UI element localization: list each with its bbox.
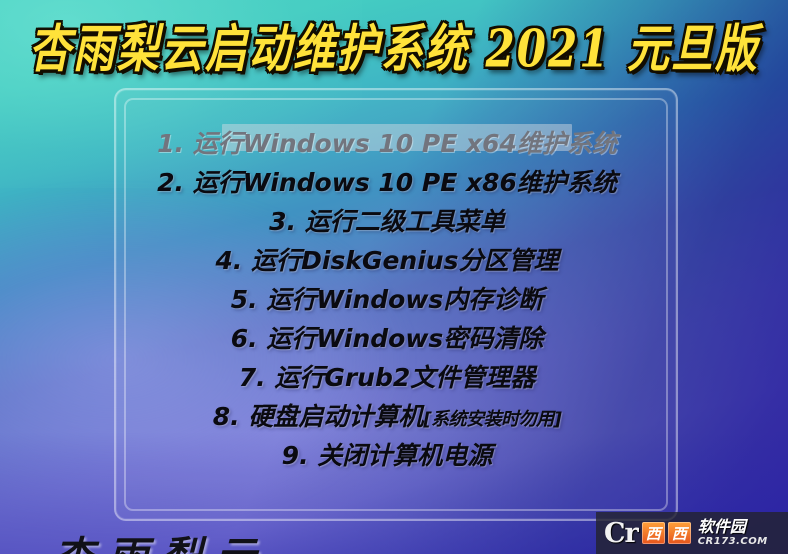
boot-menu-item-text: 运行Windows密码清除 [266, 324, 543, 353]
site-watermark: Cr 西 西 软件园 CR173.COM [596, 512, 788, 554]
watermark-logo-mark: Cr [604, 520, 638, 547]
boot-menu-item-number: 1. [157, 129, 184, 158]
boot-menu-screen: 杏雨梨云启动维护系统 2021 元旦版 1. 运行Windows 10 PE x… [0, 0, 788, 554]
boot-menu-item-label: 5. 运行Windows内存诊断 [114, 280, 674, 316]
boot-menu-item-label: 9. 关闭计算机电源 [114, 436, 674, 472]
watermark-site-name: 软件园 [698, 519, 768, 535]
boot-menu-item-label: 4. 运行DiskGenius分区管理 [114, 241, 674, 277]
boot-menu-item-label: 3. 运行二级工具菜单 [114, 202, 674, 238]
boot-menu-item-5[interactable]: 5. 运行Windows内存诊断 [114, 278, 674, 317]
boot-menu-item-text: 硬盘启动计算机 [248, 402, 423, 431]
bottom-decorative-text: 杏雨梨云 [54, 524, 270, 554]
watermark-boxes: 西 西 [642, 522, 691, 544]
boot-menu-item-text: 运行Grub2文件管理器 [274, 363, 535, 392]
boot-menu-item-text: 运行DiskGenius分区管理 [251, 246, 558, 275]
boot-menu-item-note: [系统安装时勿用] [423, 409, 561, 430]
page-title: 杏雨梨云启动维护系统 2021 元旦版 [0, 8, 788, 82]
boot-menu-item-8[interactable]: 8. 硬盘启动计算机[系统安装时勿用] [114, 395, 674, 434]
boot-menu-item-7[interactable]: 7. 运行Grub2文件管理器 [114, 356, 674, 395]
boot-menu-item-number: 9. [282, 441, 309, 470]
boot-menu-item-number: 6. [231, 324, 258, 353]
boot-menu-item-9[interactable]: 9. 关闭计算机电源 [114, 434, 674, 473]
boot-menu-item-text: 运行Windows内存诊断 [266, 285, 543, 314]
boot-menu-item-number: 8. [213, 402, 240, 431]
boot-menu-item-text: 运行Windows 10 PE x64维护系统 [193, 129, 617, 158]
boot-menu-item-1[interactable]: 1. 运行Windows 10 PE x64维护系统 [114, 122, 674, 161]
watermark-box-1: 西 [642, 522, 665, 544]
watermark-site-url: CR173.COM [698, 537, 768, 547]
boot-menu-item-number: 7. [239, 363, 266, 392]
boot-menu-item-text: 运行二级工具菜单 [305, 207, 505, 236]
boot-menu-item-label: 1. 运行Windows 10 PE x64维护系统 [114, 124, 674, 160]
boot-menu-item-number: 2. [157, 168, 184, 197]
boot-menu-item-text: 运行Windows 10 PE x86维护系统 [193, 168, 617, 197]
boot-menu-item-label: 6. 运行Windows密码清除 [114, 319, 674, 355]
boot-menu-item-6[interactable]: 6. 运行Windows密码清除 [114, 317, 674, 356]
boot-menu-item-number: 3. [269, 207, 296, 236]
boot-menu-item-text: 关闭计算机电源 [317, 441, 492, 470]
boot-menu-item-4[interactable]: 4. 运行DiskGenius分区管理 [114, 239, 674, 278]
boot-menu-item-number: 4. [216, 246, 243, 275]
watermark-textblock: 软件园 CR173.COM [698, 519, 768, 547]
watermark-box-2: 西 [668, 522, 691, 544]
boot-menu-item-3[interactable]: 3. 运行二级工具菜单 [114, 200, 674, 239]
boot-menu-list[interactable]: 1. 运行Windows 10 PE x64维护系统2. 运行Windows 1… [114, 122, 674, 473]
boot-menu-item-label: 7. 运行Grub2文件管理器 [114, 358, 674, 394]
boot-menu-item-label: 8. 硬盘启动计算机[系统安装时勿用] [114, 397, 674, 433]
boot-menu-item-label: 2. 运行Windows 10 PE x86维护系统 [114, 163, 674, 199]
boot-menu-item-number: 5. [231, 285, 258, 314]
boot-menu-item-2[interactable]: 2. 运行Windows 10 PE x86维护系统 [114, 161, 674, 200]
